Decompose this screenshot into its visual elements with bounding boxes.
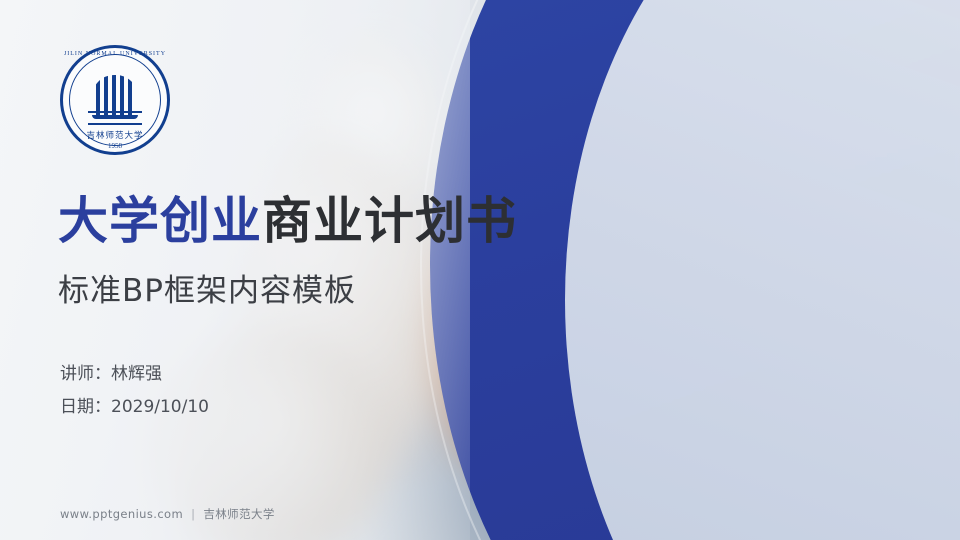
presenter-label: 讲师： xyxy=(60,364,111,384)
date-row: 日期：2029/10/10 xyxy=(60,391,209,424)
footer: www.pptgenius.com | 吉林师范大学 xyxy=(60,506,275,522)
footer-organization: 吉林师范大学 xyxy=(203,506,274,522)
logo-book-icon xyxy=(88,111,142,125)
logo-year: 1958 xyxy=(60,142,170,150)
title-rest: 商业计划书 xyxy=(262,192,517,250)
date-label: 日期： xyxy=(60,397,111,417)
page-title: 大学创业商业计划书 xyxy=(58,196,517,246)
frosted-circle-overlay xyxy=(565,0,960,540)
title-highlight: 大学创业 xyxy=(58,192,262,250)
meta-block: 讲师：林辉强 日期：2029/10/10 xyxy=(60,358,209,424)
presenter-row: 讲师：林辉强 xyxy=(60,358,209,391)
page-subtitle: 标准BP框架内容模板 xyxy=(58,272,356,311)
date-value: 2029/10/10 xyxy=(111,397,209,417)
footer-separator: | xyxy=(191,507,195,521)
logo-ring-text-top: JILIN NORMAL UNIVERSITY xyxy=(60,51,170,57)
presenter-value: 林辉强 xyxy=(111,364,162,384)
logo-ring-text-bottom: 吉林师范大学 xyxy=(60,129,170,141)
university-logo: JILIN NORMAL UNIVERSITY 吉林师范大学 1958 xyxy=(60,45,170,155)
presentation-slide: JILIN NORMAL UNIVERSITY 吉林师范大学 1958 大学创业… xyxy=(0,0,960,540)
footer-site-link[interactable]: www.pptgenius.com xyxy=(60,507,183,521)
